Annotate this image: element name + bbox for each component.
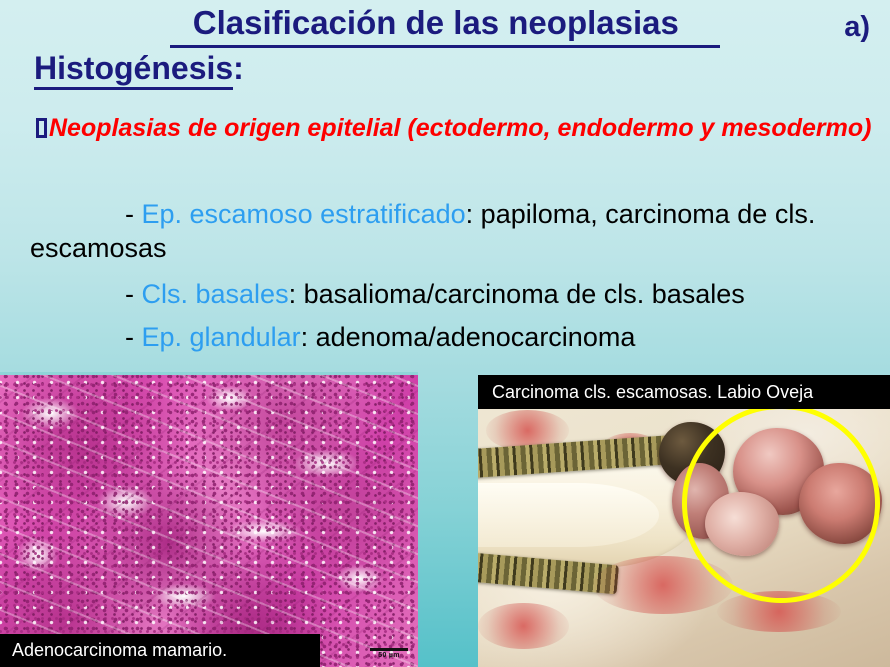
page-title: Clasificación de las neoplasias [170,4,719,48]
list-rest: : adenoma/adenocarcinoma [301,322,636,352]
list-rest: : basalioma/carcinoma de cls. basales [289,279,745,309]
list-dash: - [125,279,142,309]
histology-caption: Adenocarcinoma mamario. [0,634,320,667]
list-item-epitelio-escamoso: - Ep. escamoso estratificado: papiloma, … [30,197,890,265]
list-dash: - [125,199,142,229]
list-term: Cls. basales [142,279,289,309]
histology-stroma-streaks [0,372,418,667]
section-subtitle: Histogénesis: [34,49,244,87]
photo-top-edge [0,372,418,375]
list-dash: - [125,322,142,352]
scale-bar-line [370,648,408,651]
red-bullet-text: Neoplasias de origen epitelial (ectoderm… [49,114,871,142]
red-bullet-line: Neoplasias de origen epitelial (ectoderm… [36,113,880,144]
list-item-cls-basales: - Cls. basales: basalioma/carcinoma de c… [125,277,885,311]
gross-specimen-caption: Carcinoma cls. escamosas. Labio Oveja [478,375,890,409]
title-row: Clasificación de las neoplasias [0,4,890,48]
slide-canvas: Clasificación de las neoplasias a) Histo… [0,0,890,667]
gross-specimen-photo: Carcinoma cls. escamosas. Labio Oveja [478,375,890,667]
missing-glyph-box-icon [36,118,47,138]
jaw-bone-inner [478,483,659,547]
scale-bar: 50 µm [370,648,408,659]
subtitle-colon: : [233,50,244,86]
blood-smear [478,603,569,650]
yellow-highlight-circle [682,404,880,603]
scale-bar-label: 50 µm [370,652,408,659]
subtitle-text: Histogénesis [34,50,233,90]
list-term: Ep. escamoso estratificado [142,199,466,229]
histology-photo: 50 µm Adenocarcinoma mamario. [0,372,418,667]
slide-corner-label: a) [844,10,870,44]
red-bullet-paragraph: Neoplasias de origen epitelial (ectoderm… [36,113,880,144]
list-item-ep-glandular: - Ep. glandular: adenoma/adenocarcinoma [125,320,885,354]
list-term: Ep. glandular [142,322,301,352]
